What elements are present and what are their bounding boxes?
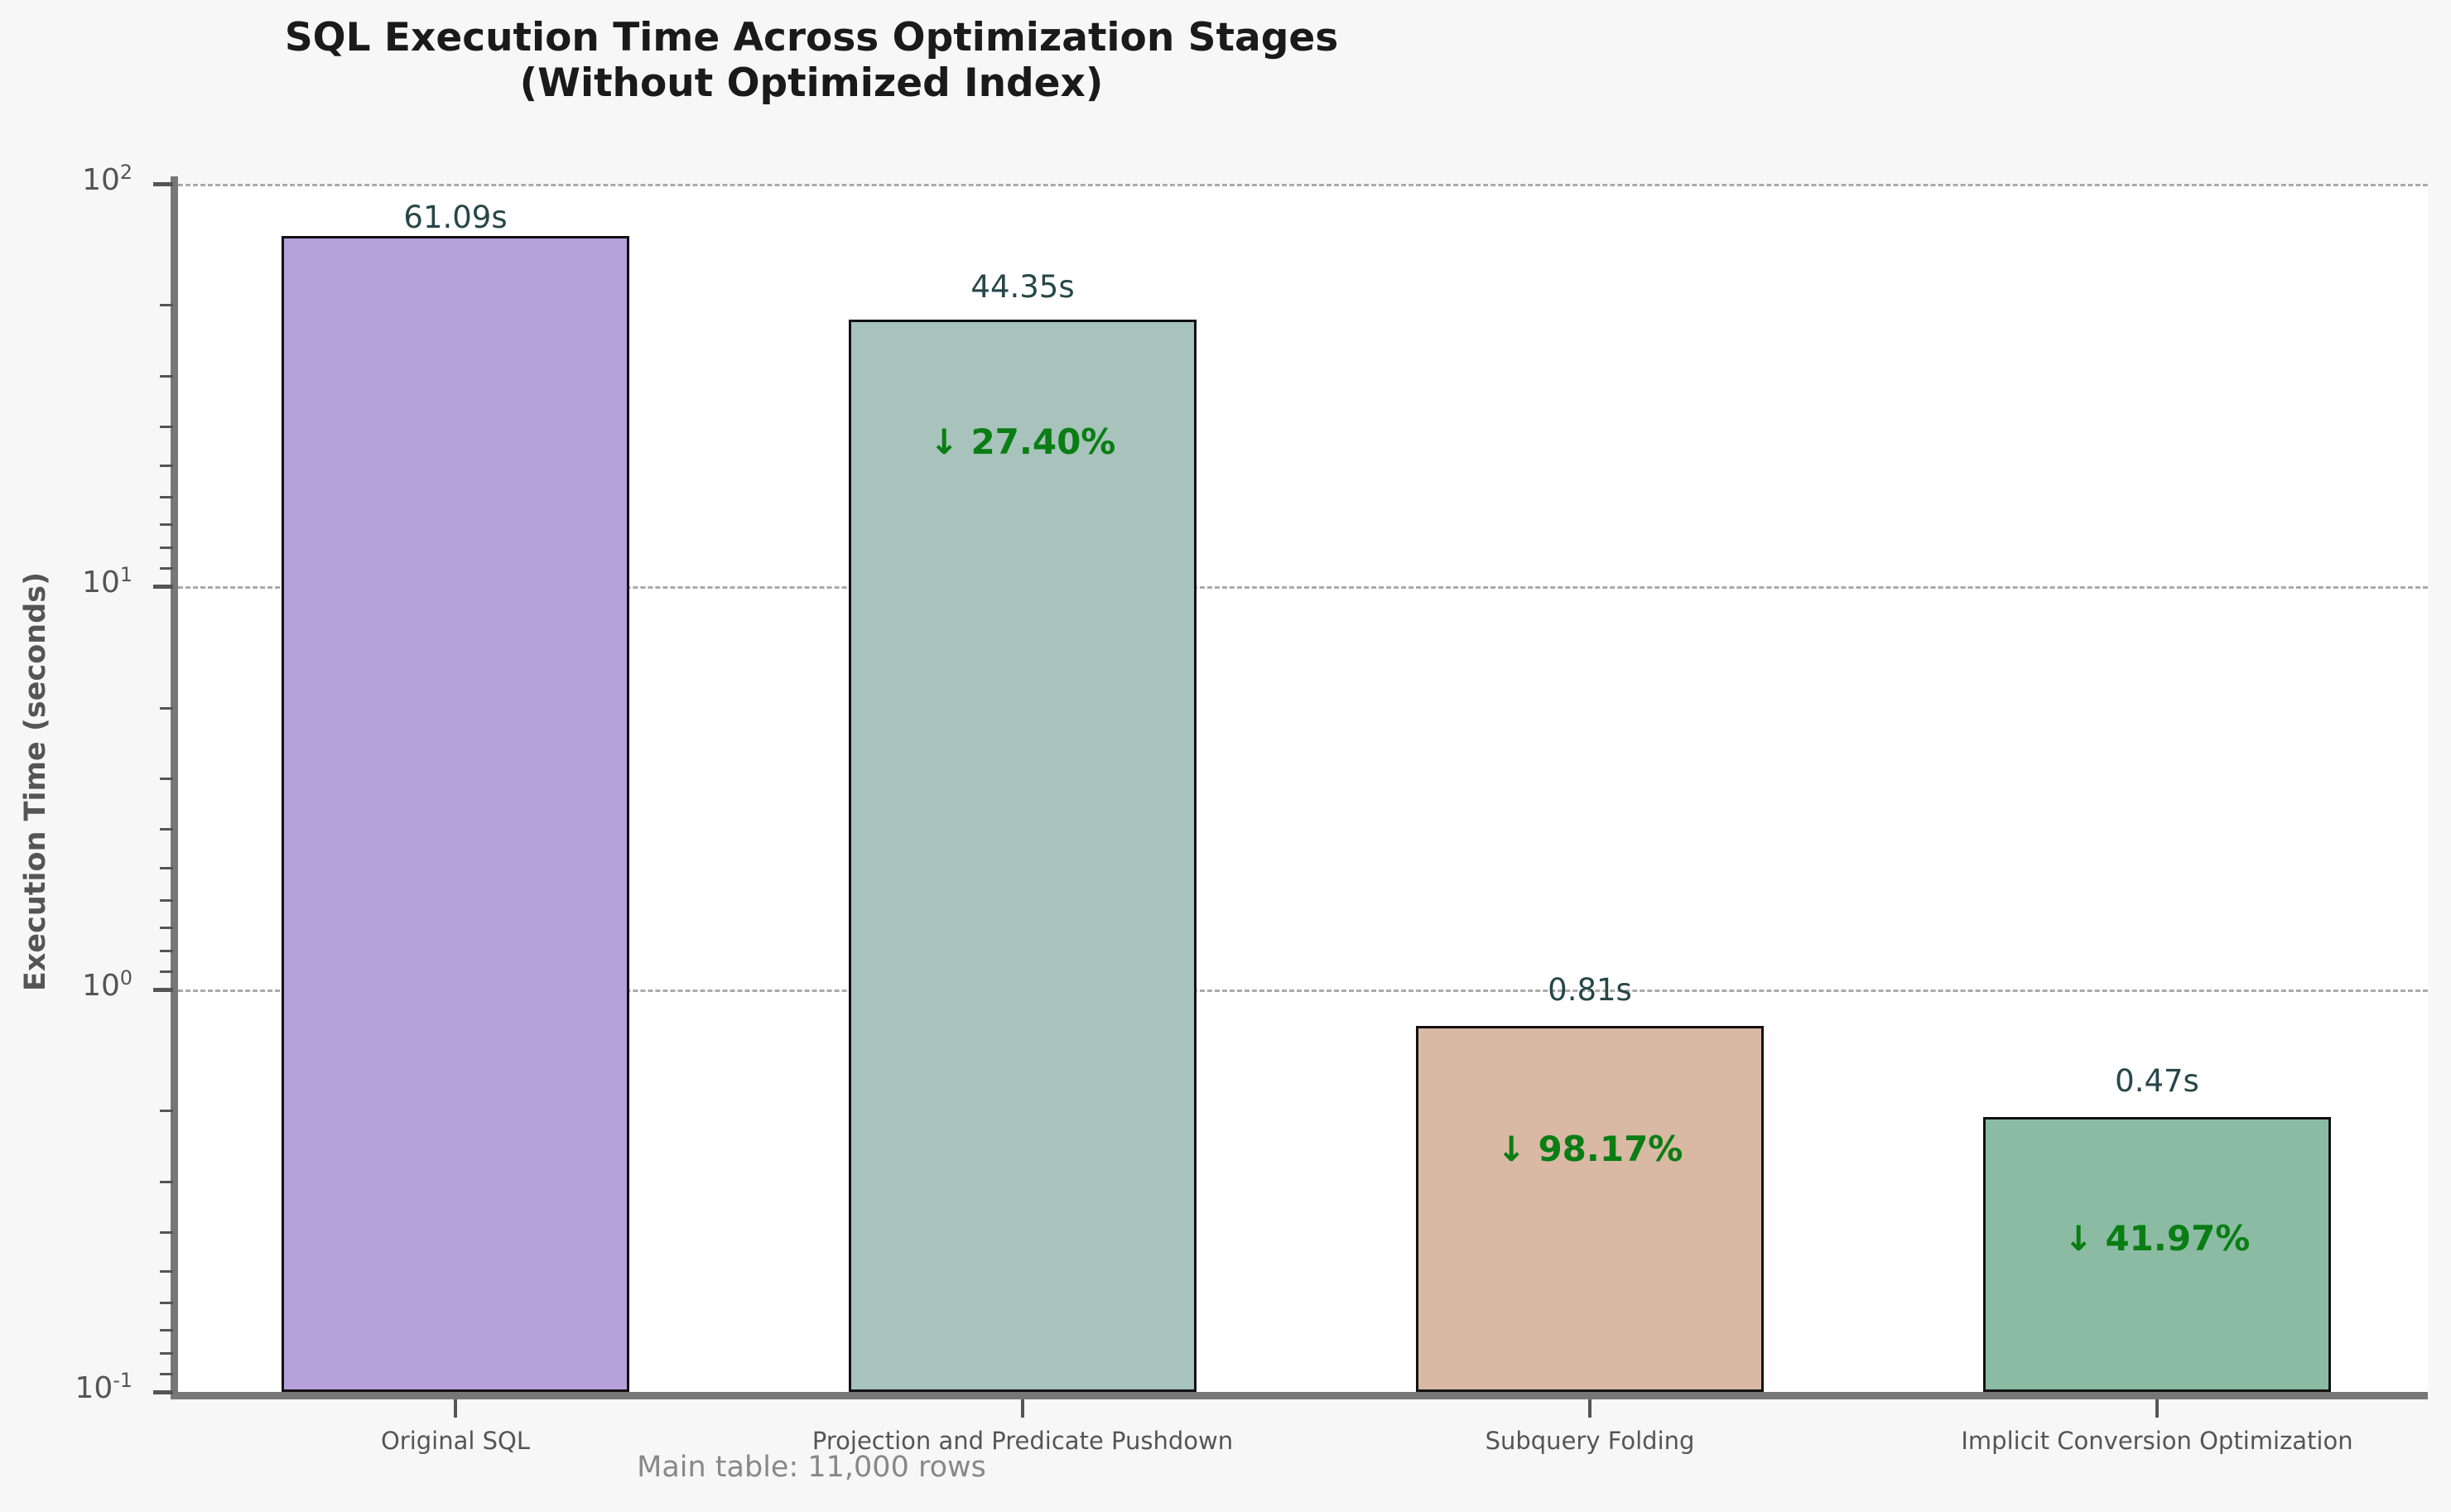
plot-area bbox=[178, 184, 2428, 1392]
gridline bbox=[178, 184, 2428, 186]
y-tick-minor bbox=[160, 496, 173, 498]
y-tick-label: 101 bbox=[0, 566, 132, 600]
bar-value-label: 44.35s bbox=[970, 269, 1074, 305]
bar-reduction-label: ↓ 98.17% bbox=[1497, 1129, 1683, 1169]
y-axis-label: Execution Time (seconds) bbox=[19, 285, 52, 1278]
bar-reduction-label: ↓ 27.40% bbox=[930, 421, 1116, 462]
y-tick-minor bbox=[160, 1329, 173, 1331]
x-tick-label: Implicit Conversion Optimization bbox=[1961, 1427, 2352, 1455]
x-axis-spine bbox=[171, 1392, 2428, 1399]
y-tick-minor bbox=[160, 465, 173, 467]
chart-figure: SQL Execution Time Across Optimization S… bbox=[0, 0, 2451, 1512]
y-tick-minor bbox=[160, 1352, 173, 1355]
y-tick-minor bbox=[160, 547, 173, 549]
bar-value-label: 0.47s bbox=[2115, 1063, 2199, 1099]
y-tick-minor bbox=[160, 304, 173, 306]
y-tick-minor bbox=[160, 707, 173, 710]
y-tick-major bbox=[153, 585, 173, 589]
y-tick-label: 100 bbox=[0, 969, 132, 1003]
y-tick-minor bbox=[160, 899, 173, 902]
y-tick-minor bbox=[160, 950, 173, 952]
y-tick-minor bbox=[160, 567, 173, 570]
y-tick-minor bbox=[160, 1302, 173, 1304]
y-tick-minor bbox=[160, 778, 173, 780]
bar[interactable] bbox=[1416, 1026, 1764, 1392]
x-tick-mark bbox=[1021, 1399, 1024, 1418]
y-tick-label: 10-1 bbox=[0, 1371, 132, 1405]
y-tick-minor bbox=[160, 970, 173, 973]
y-tick-minor bbox=[160, 1231, 173, 1234]
y-axis-spine bbox=[171, 176, 178, 1399]
y-tick-minor bbox=[160, 1181, 173, 1183]
y-tick-minor bbox=[160, 828, 173, 831]
chart-title: SQL Execution Time Across Optimization S… bbox=[0, 15, 1623, 107]
bar-reduction-label: ↓ 41.97% bbox=[2064, 1218, 2251, 1259]
x-tick-mark bbox=[2155, 1399, 2159, 1418]
bar[interactable] bbox=[282, 236, 629, 1392]
y-tick-minor bbox=[160, 1373, 173, 1375]
y-tick-minor bbox=[160, 1110, 173, 1112]
y-tick-minor bbox=[160, 867, 173, 869]
chart-title-line1: SQL Execution Time Across Optimization S… bbox=[285, 15, 1338, 60]
y-tick-major bbox=[153, 182, 173, 186]
y-tick-label: 102 bbox=[0, 163, 132, 197]
bar-value-label: 0.81s bbox=[1548, 972, 1632, 1008]
y-tick-minor bbox=[160, 426, 173, 428]
bar[interactable] bbox=[849, 320, 1197, 1392]
x-tick-mark bbox=[454, 1399, 457, 1418]
x-tick-mark bbox=[1588, 1399, 1591, 1418]
y-tick-minor bbox=[160, 523, 173, 526]
y-tick-minor bbox=[160, 927, 173, 929]
y-tick-major bbox=[153, 1390, 173, 1394]
y-tick-minor bbox=[160, 1270, 173, 1273]
footer-note: Main table: 11,000 rows bbox=[0, 1451, 1623, 1484]
chart-title-line2: (Without Optimized Index) bbox=[0, 60, 1623, 106]
bar-value-label: 61.09s bbox=[403, 200, 507, 235]
y-tick-major bbox=[153, 988, 173, 992]
y-tick-minor bbox=[160, 375, 173, 378]
